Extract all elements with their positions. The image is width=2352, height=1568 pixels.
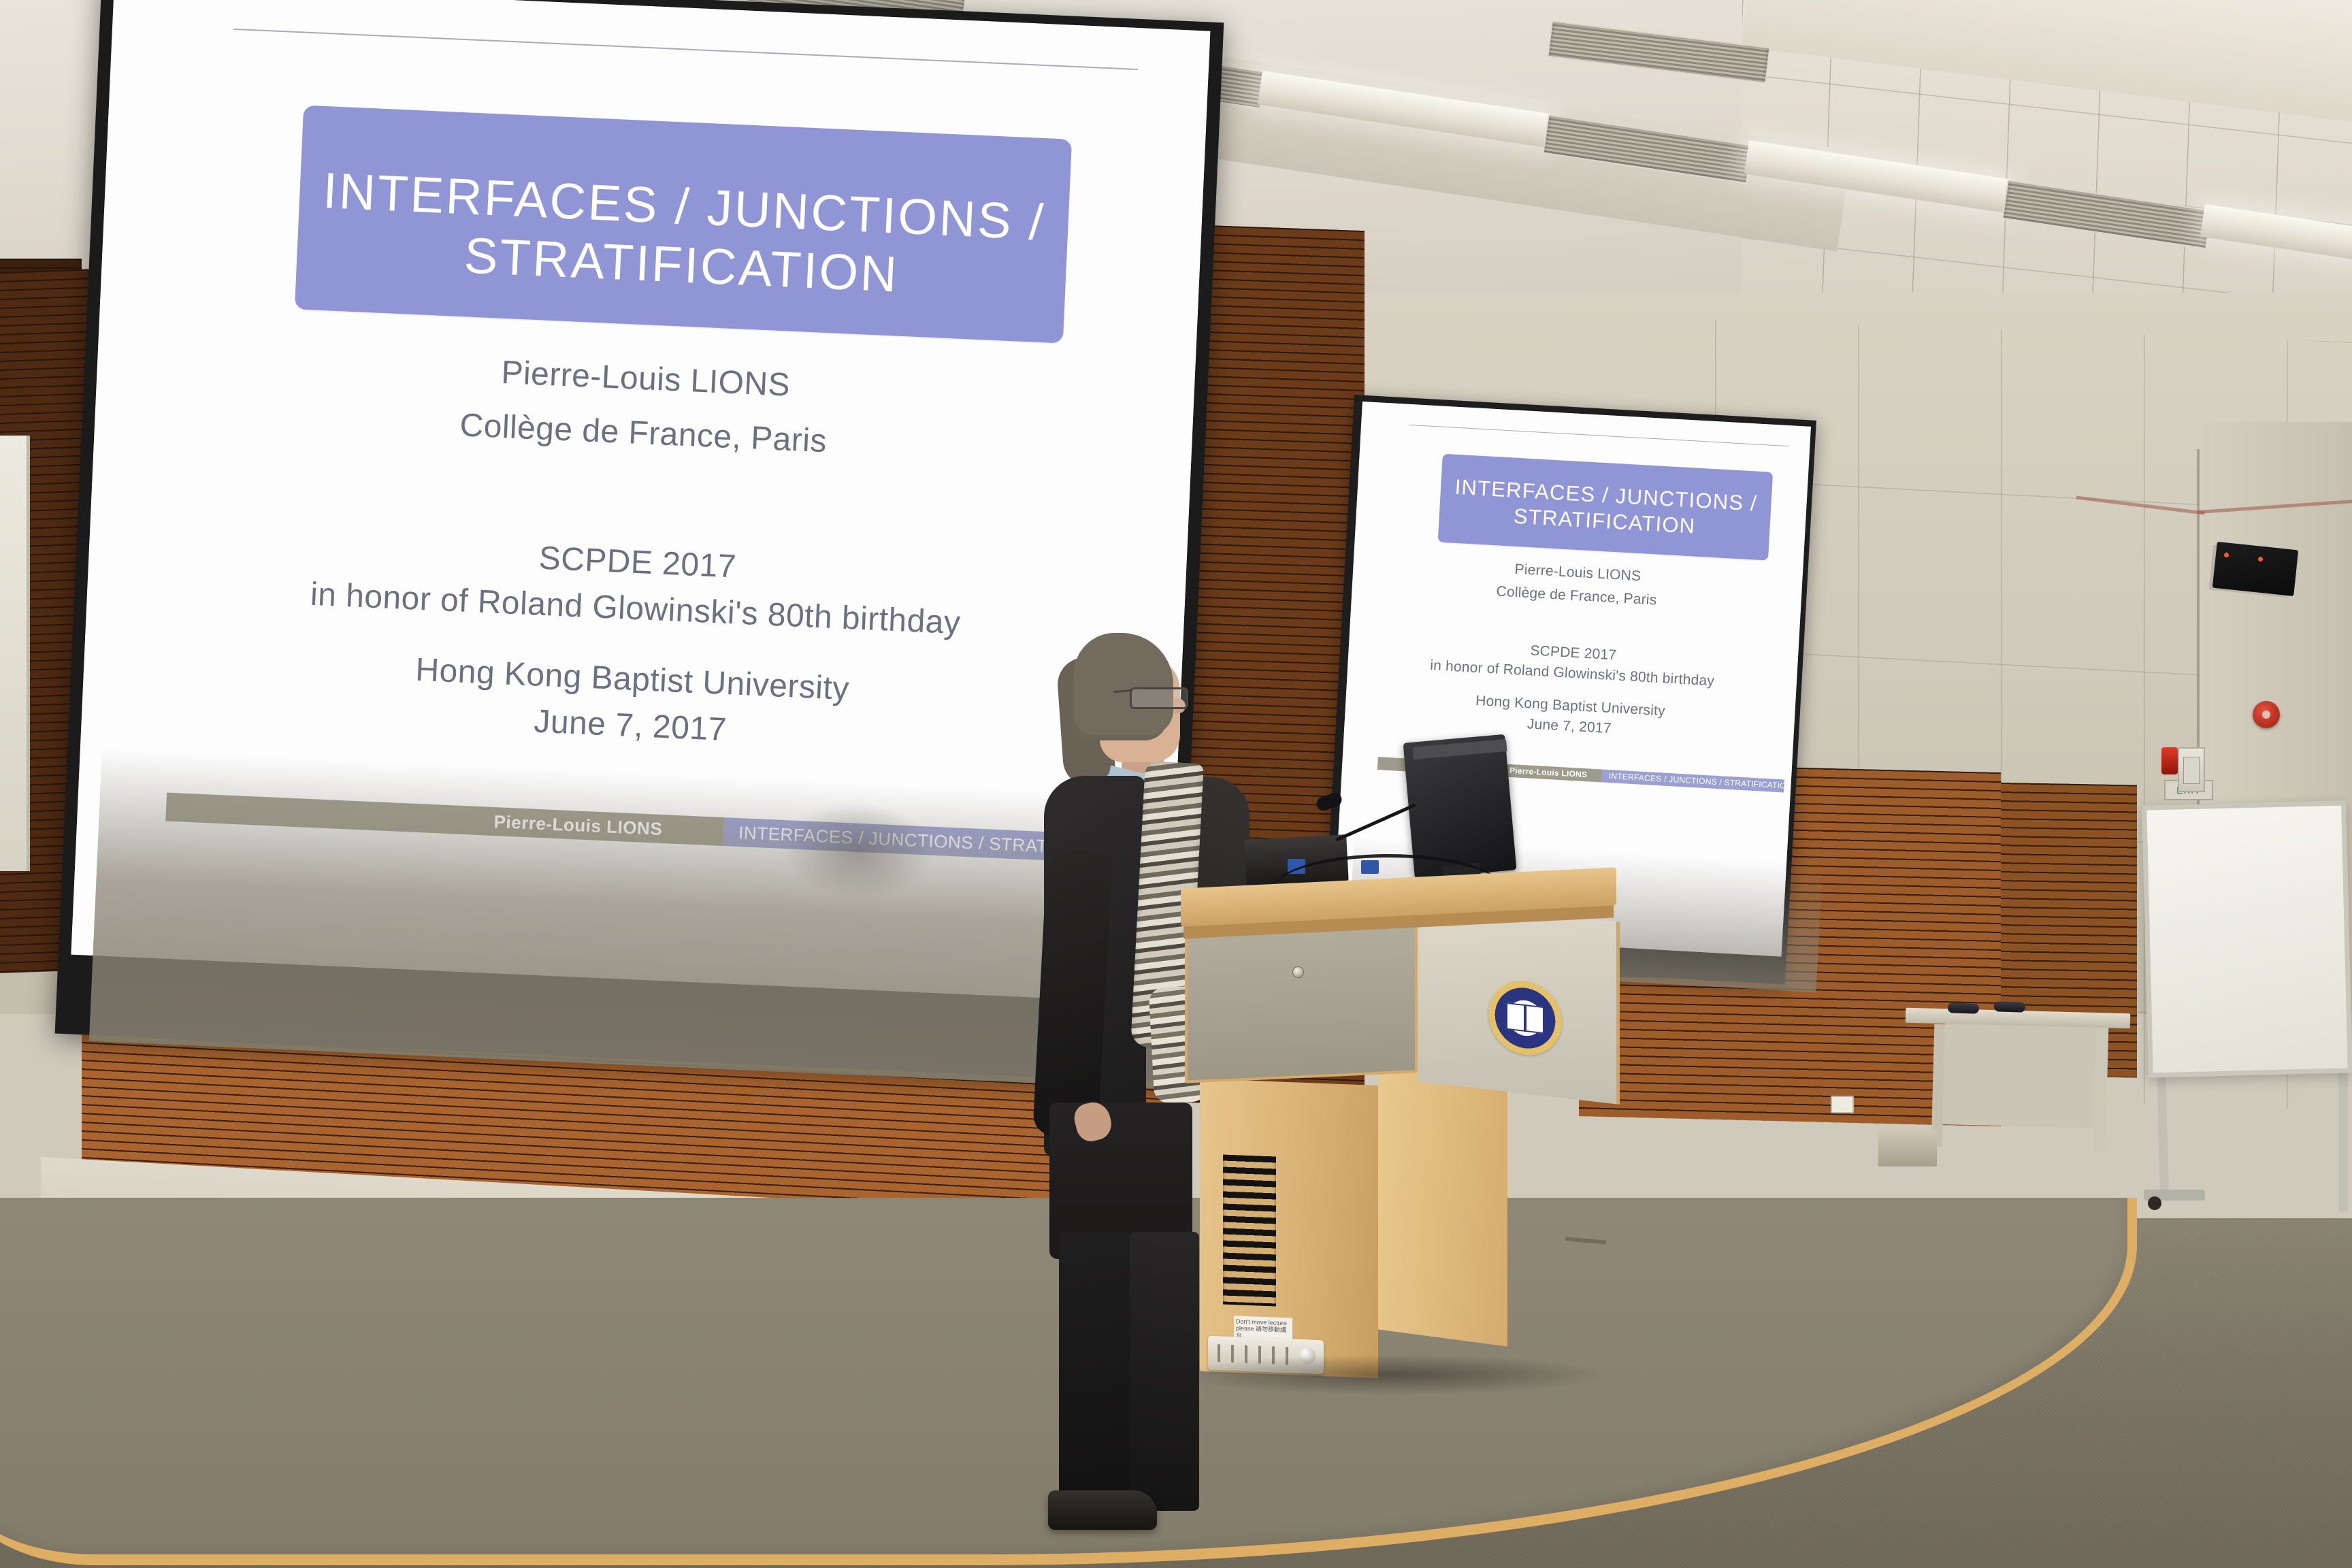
eyeglasses (1130, 687, 1188, 709)
slide-footer-right-label: INTERFACES / JUNCTIONS / STRATIFICATION (1608, 771, 1793, 791)
lectern-podium: Don't move lecture please 請勿移動講台 (1181, 878, 1616, 1375)
hkbu-seal-book-icon (1506, 1002, 1544, 1034)
podium-base-side (1378, 1057, 1507, 1346)
side-table-leg (2093, 1023, 2109, 1152)
fire-alarm-bell-center (2262, 710, 2270, 719)
podium-front-cabinet[interactable] (1185, 916, 1418, 1083)
handheld-microphone[interactable] (1948, 1002, 1979, 1014)
speaker-led-indicator (2258, 557, 2263, 561)
hair (1074, 633, 1173, 735)
fire-alarm-strobe-icon (2161, 747, 2178, 774)
wall-mounted-speaker (2212, 542, 2298, 596)
wall-outlet (1831, 1096, 1854, 1113)
cabinet-lock-icon[interactable] (1292, 966, 1304, 978)
whiteboard-leg (2338, 1068, 2348, 1211)
light-switch[interactable] (2183, 757, 2200, 784)
left-leg (1059, 1232, 1130, 1518)
lecture-hall-photo: INTERFACES / JUNCTIONS / STRATIFICATION … (0, 0, 2352, 1568)
shoe (1048, 1490, 1157, 1530)
slide-top-rule (1409, 425, 1789, 446)
slide-top-rule (233, 29, 1138, 70)
storage-box (1878, 1130, 1937, 1166)
whiteboard-caster-wheel (2148, 1196, 2161, 1210)
podium-shadow (1174, 1354, 1610, 1395)
speaker-shadow (781, 800, 934, 901)
mobile-whiteboard[interactable] (2142, 800, 2352, 1077)
podium-vent-grille (1223, 1155, 1276, 1307)
handheld-microphone[interactable] (1994, 1001, 2025, 1013)
wall-mounted-whiteboard-edge (0, 436, 30, 871)
side-table-panel (1942, 1022, 2099, 1128)
speaker-led-indicator (2224, 553, 2229, 557)
